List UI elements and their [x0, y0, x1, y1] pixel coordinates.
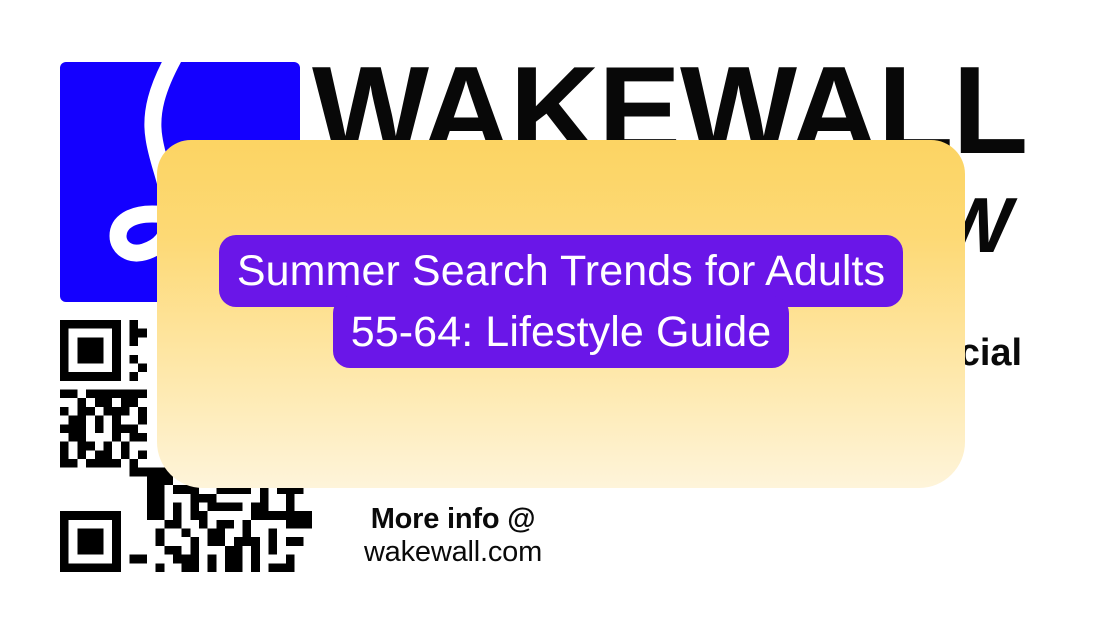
- headline-overlay-card: Summer Search Trends for Adults55-64: Li…: [157, 140, 965, 488]
- headline-text: Summer Search Trends for Adults55-64: Li…: [157, 241, 965, 363]
- poster-canvas: WAKEWALL W business listings, and a vibr…: [0, 0, 1120, 630]
- website-url[interactable]: wakewall.com: [333, 536, 573, 569]
- headline-line-2: 55-64: Lifestyle Guide: [333, 296, 790, 368]
- more-info-block: More info @ wakewall.com: [333, 503, 573, 570]
- headline-container: Summer Search Trends for Adults55-64: Li…: [157, 140, 965, 488]
- more-info-label: More info @: [333, 503, 573, 536]
